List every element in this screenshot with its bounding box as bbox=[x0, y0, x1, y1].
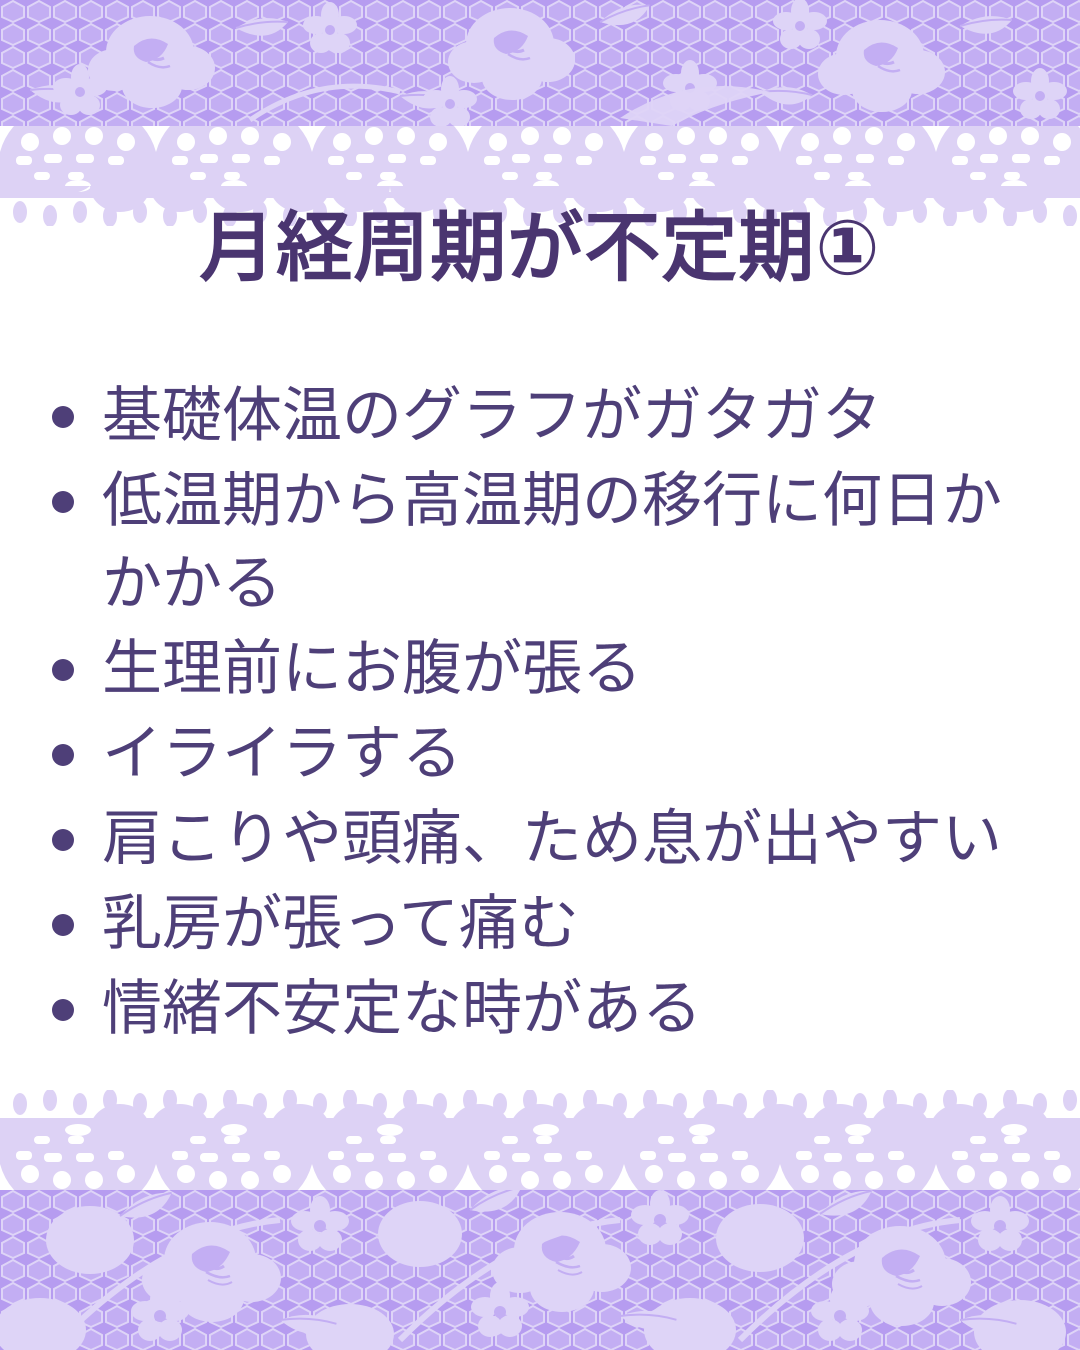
list-item-label: 情緒不安定な時がある bbox=[102, 967, 1040, 1050]
list-item: 乳房が張って痛む bbox=[40, 882, 1040, 965]
bottom-scalloped-lace-trim bbox=[0, 1118, 1080, 1190]
list-item: 基礎体温のグラフがガタガタ bbox=[40, 374, 1040, 457]
top-floral-lace-band bbox=[0, 0, 1080, 126]
bullet-dot-icon bbox=[52, 659, 74, 681]
list-item-label: 乳房が張って痛む bbox=[102, 882, 1040, 965]
bullet-dot-icon bbox=[52, 491, 74, 513]
fringe-loops-icon bbox=[0, 1090, 1080, 1130]
list-item: 情緒不安定な時がある bbox=[40, 967, 1040, 1050]
list-item: 低温期から高温期の移行に何日かかかる bbox=[40, 459, 1040, 625]
bullet-dot-icon bbox=[52, 406, 74, 428]
slide-canvas: 月経周期が不定期① 基礎体温のグラフがガタガタ 低温期から高温期の移行に何日かか… bbox=[0, 0, 1080, 1350]
slide-content: 月経周期が不定期① 基礎体温のグラフがガタガタ 低温期から高温期の移行に何日かか… bbox=[0, 196, 1080, 1090]
bullet-dot-icon bbox=[52, 829, 74, 851]
bullet-dot-icon bbox=[52, 744, 74, 766]
list-item: イライラする bbox=[40, 712, 1040, 795]
list-item-label: 肩こりや頭痛、ため息が出やすい bbox=[102, 797, 1040, 880]
bullet-dot-icon bbox=[52, 999, 74, 1021]
top-decorative-border bbox=[0, 0, 1080, 200]
bottom-decorative-border bbox=[0, 1090, 1080, 1350]
symptom-list: 基礎体温のグラフがガタガタ 低温期から高温期の移行に何日かかかる 生理前にお腹が… bbox=[40, 374, 1040, 1052]
list-item-label: 生理前にお腹が張る bbox=[102, 627, 1040, 710]
top-scalloped-lace-trim bbox=[0, 126, 1080, 198]
floral-lace-pattern-icon bbox=[0, 1190, 1080, 1350]
list-item-label: 基礎体温のグラフがガタガタ bbox=[102, 374, 1040, 457]
list-item-label: イライラする bbox=[102, 712, 1040, 795]
list-item-label: 低温期から高温期の移行に何日かかかる bbox=[102, 459, 1040, 625]
floral-lace-pattern-icon bbox=[0, 0, 1080, 126]
list-item: 肩こりや頭痛、ため息が出やすい bbox=[40, 797, 1040, 880]
bottom-lace-fringe bbox=[0, 1090, 1080, 1130]
page-title: 月経周期が不定期① bbox=[0, 196, 1080, 292]
scallop-lace-icon bbox=[0, 1118, 1080, 1190]
scallop-lace-icon bbox=[0, 126, 1080, 198]
list-item: 生理前にお腹が張る bbox=[40, 627, 1040, 710]
bullet-dot-icon bbox=[52, 914, 74, 936]
bottom-floral-lace-band bbox=[0, 1190, 1080, 1350]
